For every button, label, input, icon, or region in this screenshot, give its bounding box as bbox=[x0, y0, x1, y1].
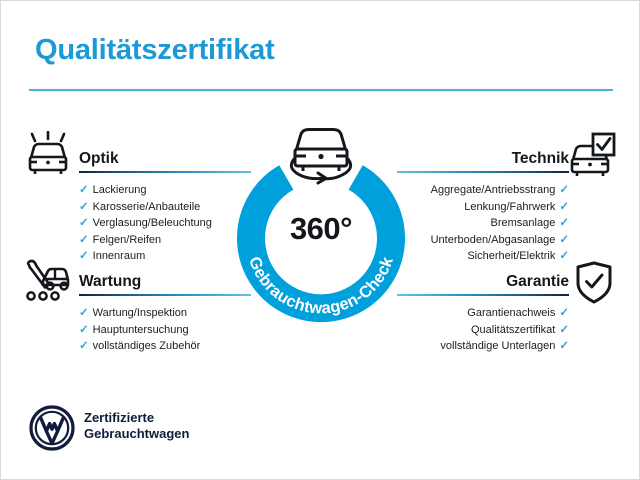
check-icon: ✓ bbox=[79, 184, 89, 196]
list-item-label: Garantienachweis bbox=[467, 307, 555, 319]
list-item-label: Lenkung/Fahrwerk bbox=[464, 201, 555, 213]
section-header: Optik bbox=[79, 143, 251, 173]
badge-360-gebrauchtwagen-check: Gebrauchtwagen-Check 360° bbox=[229, 149, 413, 333]
list-item: ✓Felgen/Reifen bbox=[79, 232, 251, 249]
check-icon: ✓ bbox=[559, 307, 569, 319]
list-item: Qualitätszertifikat✓ bbox=[397, 322, 569, 339]
section-title: Garantie bbox=[506, 273, 569, 291]
section-title: Technik bbox=[512, 150, 569, 168]
section-garantie: Garantie Garantienachweis✓ Qualitätszert… bbox=[397, 266, 569, 355]
list-item-label: Wartung/Inspektion bbox=[93, 307, 187, 319]
list-item: Garantienachweis✓ bbox=[397, 305, 569, 322]
list-item-label: Unterboden/Abgasanlage bbox=[431, 234, 556, 246]
list-item: Bremsanlage✓ bbox=[397, 215, 569, 232]
list-item: Aggregate/Antriebsstrang✓ bbox=[397, 182, 569, 199]
list-item-label: Hauptuntersuchung bbox=[93, 324, 189, 336]
list-item: ✓Verglasung/Beleuchtung bbox=[79, 215, 251, 232]
list-item: Unterboden/Abgasanlage✓ bbox=[397, 232, 569, 249]
list-item-label: vollständige Unterlagen bbox=[440, 340, 555, 352]
list-item-label: vollständiges Zubehör bbox=[93, 340, 201, 352]
page-title: Qualitätszertifikat bbox=[35, 34, 275, 67]
section-divider bbox=[397, 171, 569, 173]
check-icon: ✓ bbox=[559, 340, 569, 352]
car-shine-icon bbox=[23, 131, 73, 182]
check-icon: ✓ bbox=[559, 250, 569, 262]
list-item: ✓Lackierung bbox=[79, 182, 251, 199]
check-icon: ✓ bbox=[79, 201, 89, 213]
section-divider bbox=[397, 294, 569, 296]
section-header: Technik bbox=[397, 143, 569, 173]
list-item-label: Felgen/Reifen bbox=[93, 234, 162, 246]
checklist: ✓Wartung/Inspektion ✓Hauptuntersuchung ✓… bbox=[79, 305, 251, 355]
section-title: Wartung bbox=[79, 273, 141, 291]
list-item-label: Qualitätszertifikat bbox=[471, 324, 555, 336]
list-item-label: Innenraum bbox=[93, 250, 146, 262]
list-item: ✓Karosserie/Anbauteile bbox=[79, 199, 251, 216]
check-icon: ✓ bbox=[79, 307, 89, 319]
check-icon: ✓ bbox=[79, 250, 89, 262]
check-icon: ✓ bbox=[559, 217, 569, 229]
checklist: Garantienachweis✓ Qualitätszertifikat✓ v… bbox=[397, 305, 569, 355]
list-item-label: Bremsanlage bbox=[491, 217, 556, 229]
wrench-car-icon bbox=[21, 259, 75, 310]
section-divider bbox=[79, 294, 251, 296]
list-item-label: Verglasung/Beleuchtung bbox=[93, 217, 212, 229]
checklist: Aggregate/Antriebsstrang✓ Lenkung/Fahrwe… bbox=[397, 182, 569, 265]
section-wartung: Wartung ✓Wartung/Inspektion ✓Hauptunters… bbox=[79, 266, 251, 355]
vw-wordmark-line1: Zertifizierte bbox=[84, 410, 189, 426]
section-header: Wartung bbox=[79, 266, 251, 296]
check-icon: ✓ bbox=[559, 234, 569, 246]
check-icon: ✓ bbox=[559, 184, 569, 196]
checklist: ✓Lackierung ✓Karosserie/Anbauteile ✓Verg… bbox=[79, 182, 251, 265]
car-rotate-icon bbox=[280, 115, 362, 187]
vw-wordmark: Zertifizierte Gebrauchtwagen bbox=[84, 410, 189, 442]
list-item: ✓Wartung/Inspektion bbox=[79, 305, 251, 322]
vw-wordmark-line2: Gebrauchtwagen bbox=[84, 426, 189, 442]
check-icon: ✓ bbox=[559, 324, 569, 336]
list-item-label: Aggregate/Antriebsstrang bbox=[431, 184, 556, 196]
check-icon: ✓ bbox=[79, 234, 89, 246]
list-item: ✓Hauptuntersuchung bbox=[79, 322, 251, 339]
check-icon: ✓ bbox=[79, 217, 89, 229]
section-divider bbox=[79, 171, 251, 173]
check-icon: ✓ bbox=[79, 340, 89, 352]
section-optik: Optik ✓Lackierung ✓Karosserie/Anbauteile… bbox=[79, 143, 251, 265]
list-item: Lenkung/Fahrwerk✓ bbox=[397, 199, 569, 216]
shield-check-icon bbox=[573, 260, 615, 311]
vw-logo bbox=[29, 405, 75, 456]
section-header: Garantie bbox=[397, 266, 569, 296]
list-item-label: Sicherheit/Elektrik bbox=[467, 250, 555, 262]
check-icon: ✓ bbox=[559, 201, 569, 213]
list-item: Sicherheit/Elektrik✓ bbox=[397, 248, 569, 265]
list-item-label: Lackierung bbox=[93, 184, 147, 196]
list-item-label: Karosserie/Anbauteile bbox=[93, 201, 201, 213]
list-item: vollständige Unterlagen✓ bbox=[397, 338, 569, 355]
section-title: Optik bbox=[79, 150, 119, 168]
title-divider bbox=[29, 89, 613, 91]
list-item: ✓Innenraum bbox=[79, 248, 251, 265]
certificate-page: Qualitätszertifikat bbox=[0, 0, 640, 480]
section-technik: Technik Aggregate/Antriebsstrang✓ Lenkun… bbox=[397, 143, 569, 265]
car-checkbox-icon bbox=[567, 132, 617, 183]
check-icon: ✓ bbox=[79, 324, 89, 336]
list-item: ✓vollständiges Zubehör bbox=[79, 338, 251, 355]
badge-degrees: 360° bbox=[229, 211, 413, 247]
